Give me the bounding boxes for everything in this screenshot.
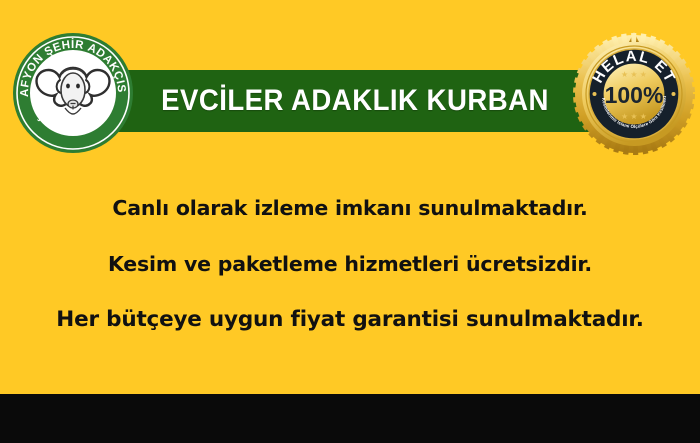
brand-logo-graphic: AFYON ŞEHİR ADAKÇISI ÇAVDAR ET	[12, 32, 134, 154]
promo-banner: EVCİLER ADAKLIK KURBAN AFYON ŞEHİR ADAKÇ…	[0, 0, 700, 443]
seal-dot-left	[593, 92, 597, 96]
seal-percent-label: 100%	[605, 82, 664, 108]
helal-et-seal: HELAL ET Tüm Kesimlerimiz İslami Ölçüler…	[572, 32, 696, 156]
body-line-3: Her bütçeye uygun fiyat garantisi sunulm…	[0, 309, 700, 331]
seal-stars-bottom: ★ ★ ★	[621, 112, 647, 121]
seal-stars-top: ★ ★ ★	[621, 70, 647, 79]
seal-dot-right	[672, 92, 676, 96]
helal-et-seal-graphic: HELAL ET Tüm Kesimlerimiz İslami Ölçüler…	[572, 32, 696, 156]
body-copy: Canlı olarak izleme imkanı sunulmaktadır…	[0, 186, 700, 331]
bottom-black-bar	[0, 394, 700, 443]
brand-logo: AFYON ŞEHİR ADAKÇISI ÇAVDAR ET	[12, 32, 134, 154]
body-line-2: Kesim ve paketleme hizmetleri ücretsizdi…	[0, 254, 700, 275]
body-line-1: Canlı olarak izleme imkanı sunulmaktadır…	[0, 198, 700, 219]
headline-text: EVCİLER ADAKLIK KURBAN	[176, 74, 535, 128]
